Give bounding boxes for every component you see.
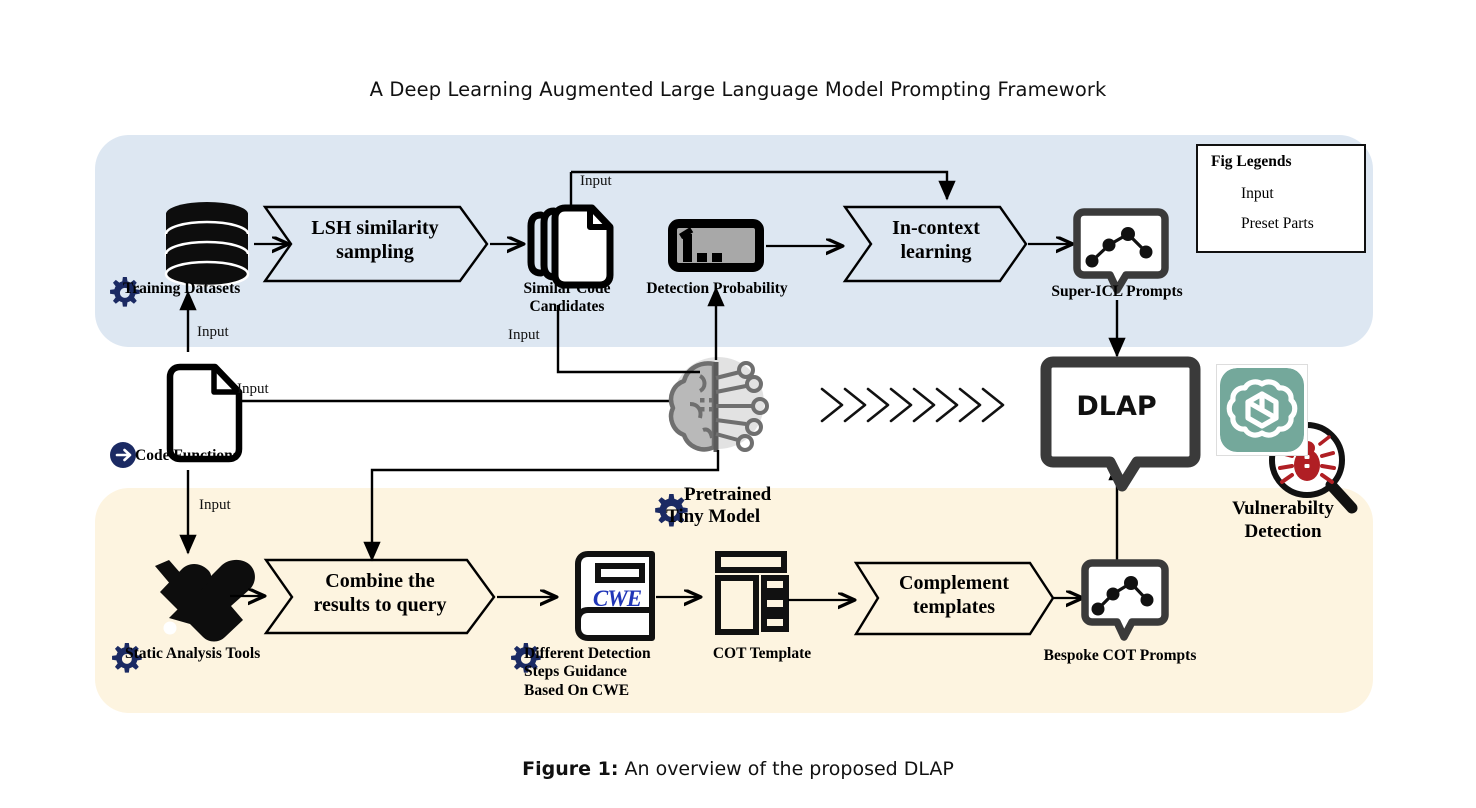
training-datasets-label: Training Datasets (123, 280, 283, 298)
lsh-similarity-sampling-label: LSH similarity sampling (276, 216, 474, 264)
edge-label-code-to-tools: Input (199, 497, 231, 514)
in-context-learning-label: In-context learning (856, 216, 1016, 264)
openai-logo-icon (1220, 368, 1304, 452)
figure-caption: Figure 1: An overview of the proposed DL… (0, 758, 1476, 780)
cwe-guidance-label: Different Detection Steps Guidance Based… (524, 645, 694, 700)
dlap-label: DLAP (1045, 362, 1188, 450)
combine-results-label: Combine the results to query (282, 569, 478, 617)
arrow-circle-icon (110, 442, 136, 468)
static-analysis-tools-label: Static Analysis Tools (125, 645, 315, 663)
edge-label-candidates-to-icl: Input (580, 173, 612, 190)
complement-templates-label: Complement templates (868, 571, 1040, 619)
chart-bubble-icon (1077, 212, 1165, 290)
bespoke-cot-prompts-label: Bespoke COT Prompts (1030, 647, 1210, 665)
detection-probability-label: Detection Probability (646, 280, 788, 298)
super-icl-prompts-label: Super-ICL Prompts (1036, 283, 1198, 301)
edge-label-datasets-input: Input (197, 324, 229, 341)
detection-probability-display (668, 219, 764, 272)
code-functions-label: Code Functions (135, 447, 275, 465)
chart-bubble-icon (1085, 563, 1165, 637)
database-icon (166, 202, 248, 286)
legend-item-label: Input (1241, 185, 1274, 203)
figure-legend-box: Fig Legends Input Preset Parts (1196, 144, 1366, 253)
documents-icon (531, 211, 554, 277)
figure-caption-text: An overview of the proposed DLAP (624, 758, 953, 780)
similar-code-candidates-label: Similar Code Candidates (497, 280, 637, 317)
document-icon (170, 367, 239, 459)
edge-label-code-to-brain: Input (237, 381, 269, 398)
cwe-wordmark: CWE (586, 586, 648, 612)
figure-canvas: A Deep Learning Augmented Large Language… (0, 0, 1476, 808)
document-front-icon (555, 208, 610, 285)
pretrained-tiny-model-label: Pretrained Tiny Model (660, 484, 864, 529)
edge-label-candidates-down: Input (508, 327, 540, 344)
legend-title: Fig Legends (1211, 153, 1292, 171)
figure-caption-label: Figure 1: (522, 758, 618, 780)
legend-item-label: Preset Parts (1241, 215, 1314, 233)
chevrons-right-icon (818, 383, 1008, 427)
cot-template-label: COT Template (700, 645, 824, 663)
tools-icon (155, 560, 255, 642)
vulnerability-detection-label: Vulnerabilty Detection (1208, 498, 1358, 544)
template-layout-icon (718, 554, 786, 632)
